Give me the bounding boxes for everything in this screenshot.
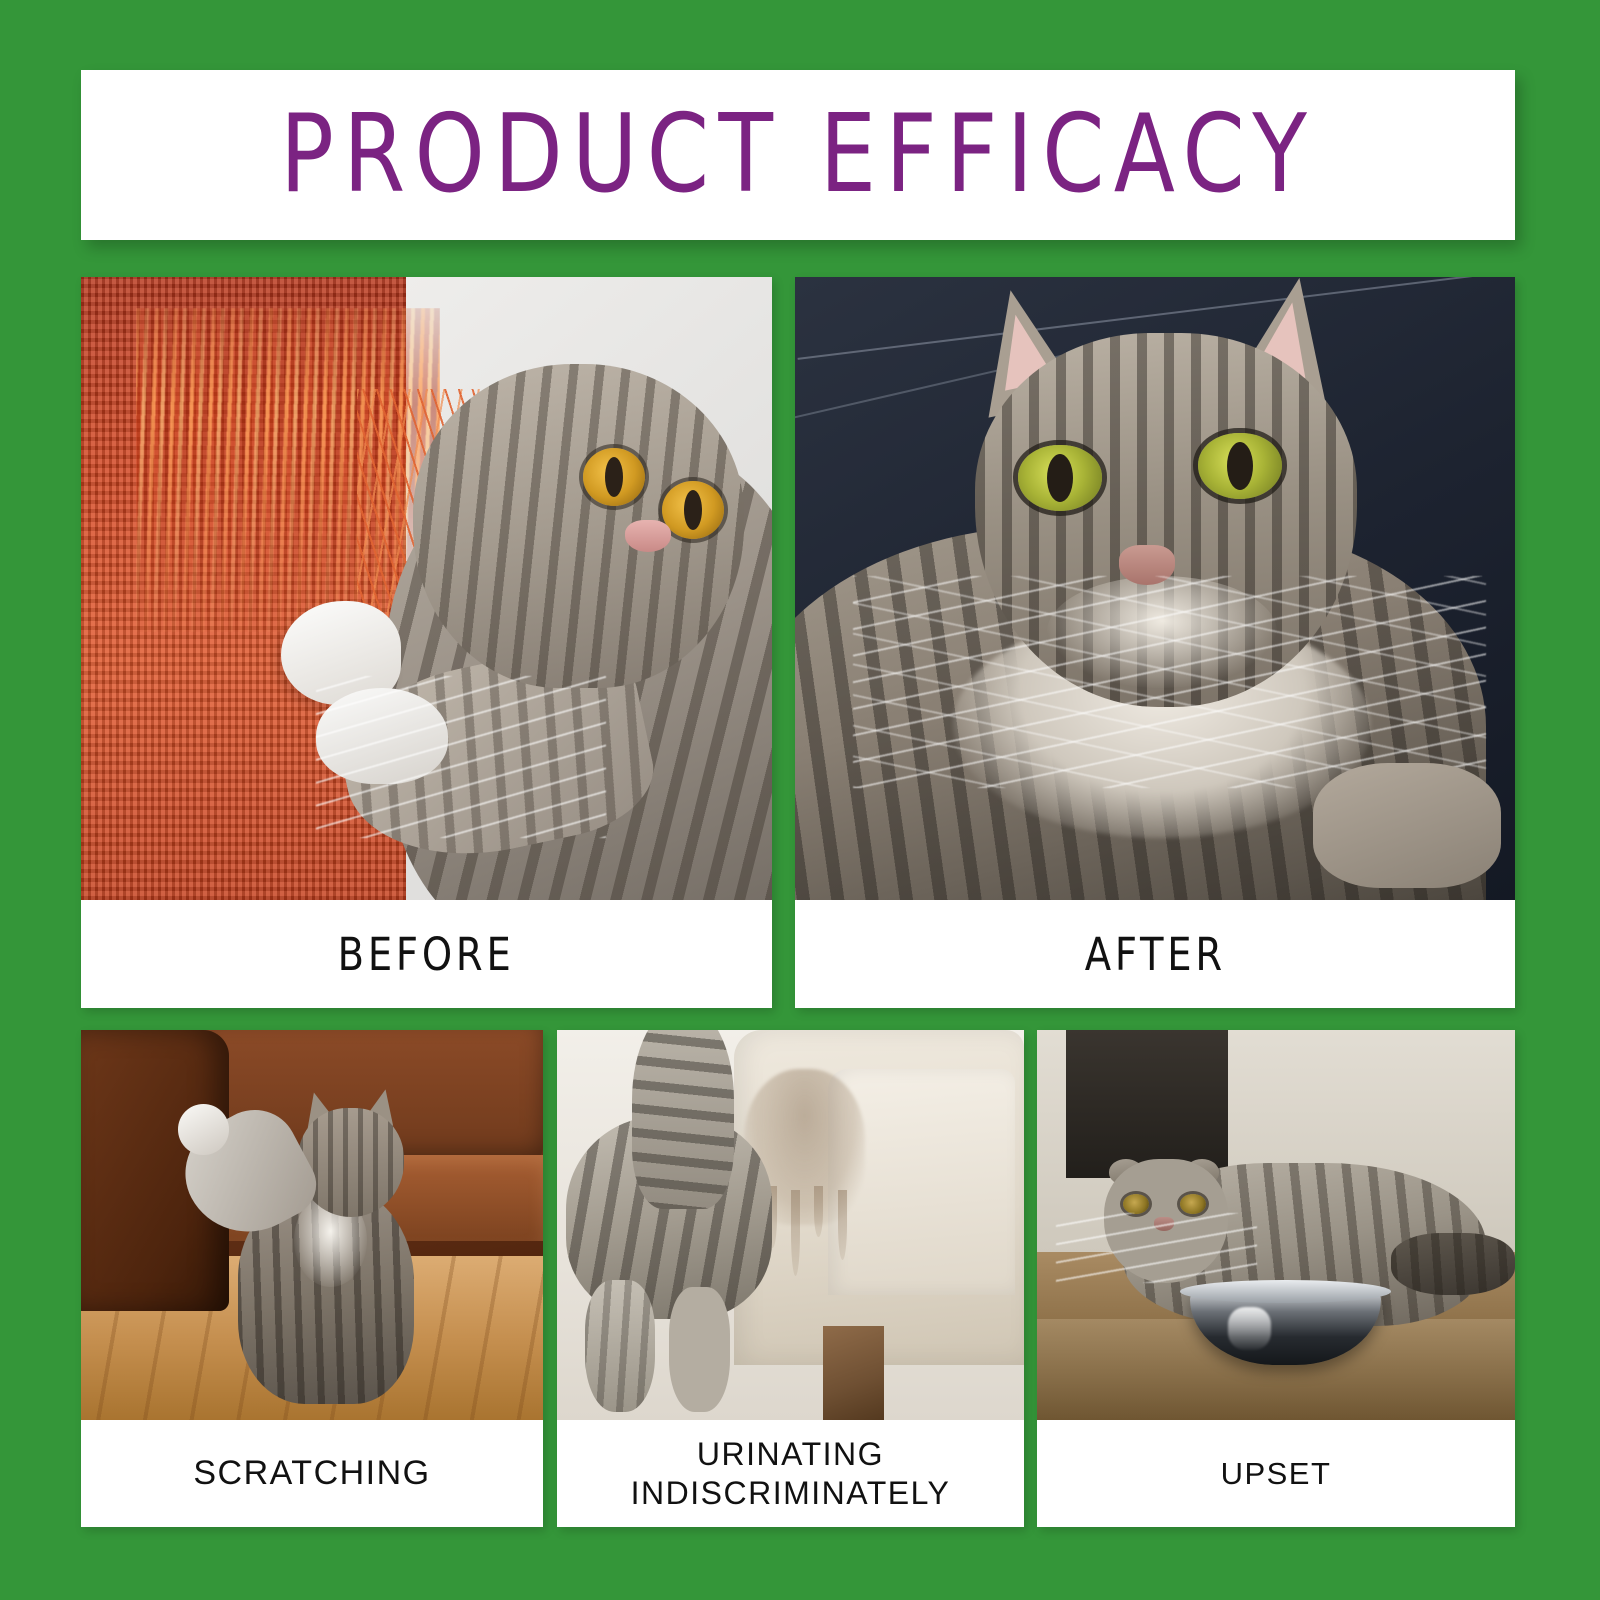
caption-line-2: INDISCRIMINATELY [631,1475,951,1511]
scene-cat-scratching-sofa [81,1030,543,1420]
cat-paw [1313,763,1500,888]
pupil-left [1047,454,1073,502]
caption-upset: UPSET [1037,1420,1515,1527]
scene-calm-cat [795,277,1515,900]
cat-hind-leg-right [669,1287,730,1412]
pupil-right [684,490,702,530]
photo-after [795,277,1515,900]
scene-cat-urinating-chair [557,1030,1024,1420]
cat-whiskers [316,676,606,838]
header-band: PRODUCT EFFICACY [81,70,1515,240]
cat-hind-leg-left [585,1280,655,1413]
photo-upset [1037,1030,1515,1420]
cat-eye-right [1198,433,1282,499]
cat-tail [1391,1233,1515,1295]
scene-cat-clawing-chair [81,277,772,900]
card-urinating[interactable]: URINATING INDISCRIMINATELY [557,1030,1024,1527]
armchair-wooden-leg [823,1326,884,1420]
food-bowl-rim [1180,1280,1390,1303]
cat-whiskers [853,576,1487,788]
cat-head [298,1108,404,1217]
page-title: PRODUCT EFFICACY [280,101,1316,209]
caption-before-label: BEFORE [338,928,515,981]
poster-root: PRODUCT EFFICACY BEFORE [0,0,1600,1600]
cat-eye-left [583,448,645,506]
scene-upset-cat-bowl [1037,1030,1515,1420]
photo-urinating [557,1030,1024,1420]
urine-drip [838,1190,847,1260]
caption-before: BEFORE [81,900,772,1008]
cat-eye-right [1180,1194,1206,1214]
card-before[interactable]: BEFORE [81,277,772,1008]
caption-upset-label: UPSET [1221,1455,1332,1492]
photo-before [81,277,772,900]
dark-cabinet [1066,1030,1229,1178]
caption-scratching: SCRATCHING [81,1420,543,1527]
photo-scratching [81,1030,543,1420]
caption-urinating-label: URINATING INDISCRIMINATELY [631,1435,951,1512]
card-after[interactable]: AFTER [795,277,1515,1008]
card-upset[interactable]: UPSET [1037,1030,1515,1527]
caption-line-1: URINATING [697,1436,884,1472]
pupil-right [1227,442,1253,490]
cat-eye-right [662,481,724,539]
cat-whiskers [1056,1213,1257,1283]
caption-after-label: AFTER [1084,928,1225,981]
caption-scratching-label: SCRATCHING [193,1453,430,1494]
cat-eye-left [1123,1194,1149,1214]
cat-clawing-paw [178,1104,229,1155]
caption-urinating: URINATING INDISCRIMINATELY [557,1420,1024,1527]
pupil-left [605,457,623,497]
caption-after: AFTER [795,900,1515,1008]
cat-tail [632,1030,735,1209]
food-bowl-highlight [1228,1307,1271,1350]
cat-nose [625,520,671,552]
cat-head [413,364,745,688]
urine-drip [791,1190,800,1276]
card-scratching[interactable]: SCRATCHING [81,1030,543,1527]
cat-eye-left [1018,445,1102,511]
